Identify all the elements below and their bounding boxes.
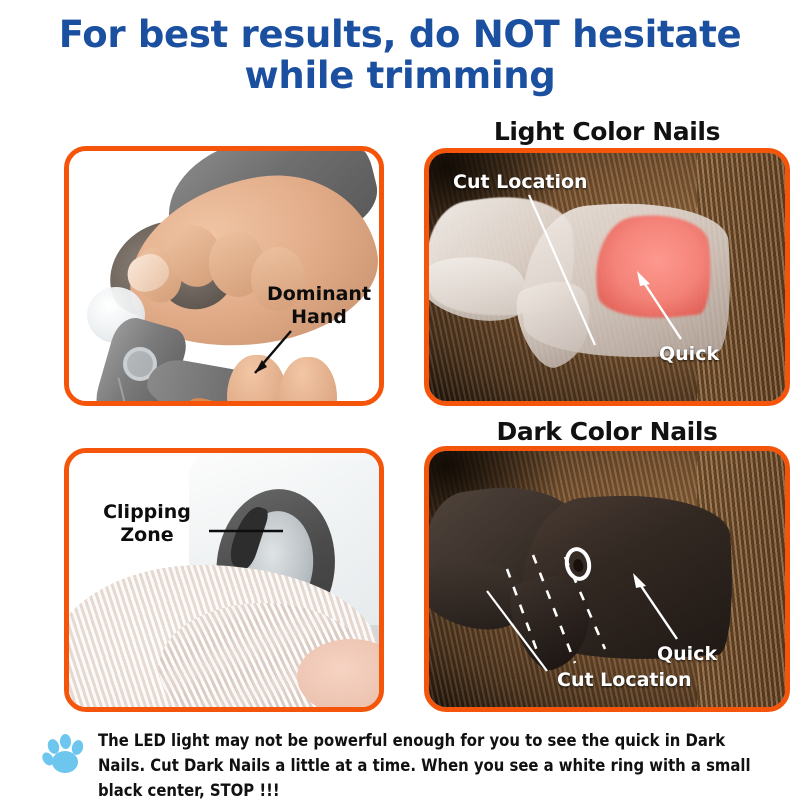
panel-dominant-hand: Dominant Hand (64, 146, 384, 406)
panel-light-color-nails: Cut Location Quick (424, 148, 790, 406)
dominant-hand-label-line-1: Dominant (259, 283, 379, 306)
heading-light-color-nails: Light Color Nails (424, 118, 790, 146)
cut-location-dashed-lines (507, 555, 605, 663)
quick-arrow-head-icon (633, 573, 646, 588)
dominant-hand-arrow-icon (69, 151, 384, 406)
paw-print-icon (42, 732, 86, 776)
dark-nail-diagram-scene: Cut Location Quick (429, 451, 785, 707)
paw-toe-2 (59, 734, 71, 750)
clipping-zone-label-line-2: Zone (83, 524, 211, 547)
footer-text: The LED light may not be powerful enough… (98, 728, 758, 800)
clipping-zone-label: Clipping Zone (83, 501, 211, 547)
footer-note: The LED light may not be powerful enough… (0, 728, 800, 800)
dark-quick-label: Quick (657, 643, 717, 665)
panel-clipping-zone: Clipping Zone (64, 448, 384, 712)
dark-cut-location-label: Cut Location (557, 669, 692, 691)
quick-arrow-head-icon (637, 271, 650, 286)
light-cut-location-label: Cut Location (453, 171, 588, 193)
dominant-hand-label-line-2: Hand (259, 306, 379, 329)
cut-location-leader-line (529, 195, 595, 345)
hand-photo-scene: Dominant Hand (69, 151, 379, 401)
dominant-hand-label: Dominant Hand (259, 283, 379, 329)
page-title-line-1: For best results, do NOT hesitate (0, 14, 800, 55)
panel-dark-color-nails: Cut Location Quick (424, 446, 790, 712)
cut-location-leader-line (487, 591, 547, 671)
paw-pad (52, 751, 78, 773)
clipping-zone-label-line-1: Clipping (83, 501, 211, 524)
heading-dark-color-nails: Dark Color Nails (424, 418, 790, 446)
page-title: For best results, do NOT hesitate while … (0, 14, 800, 96)
page-title-line-2: while trimming (0, 55, 800, 96)
clipper-photo-scene: Clipping Zone (69, 453, 379, 707)
light-nail-diagram-scene: Cut Location Quick (429, 153, 785, 401)
infographic-page: For best results, do NOT hesitate while … (0, 0, 800, 800)
light-quick-label: Quick (659, 343, 719, 365)
clipping-zone-leader-line (69, 453, 384, 712)
